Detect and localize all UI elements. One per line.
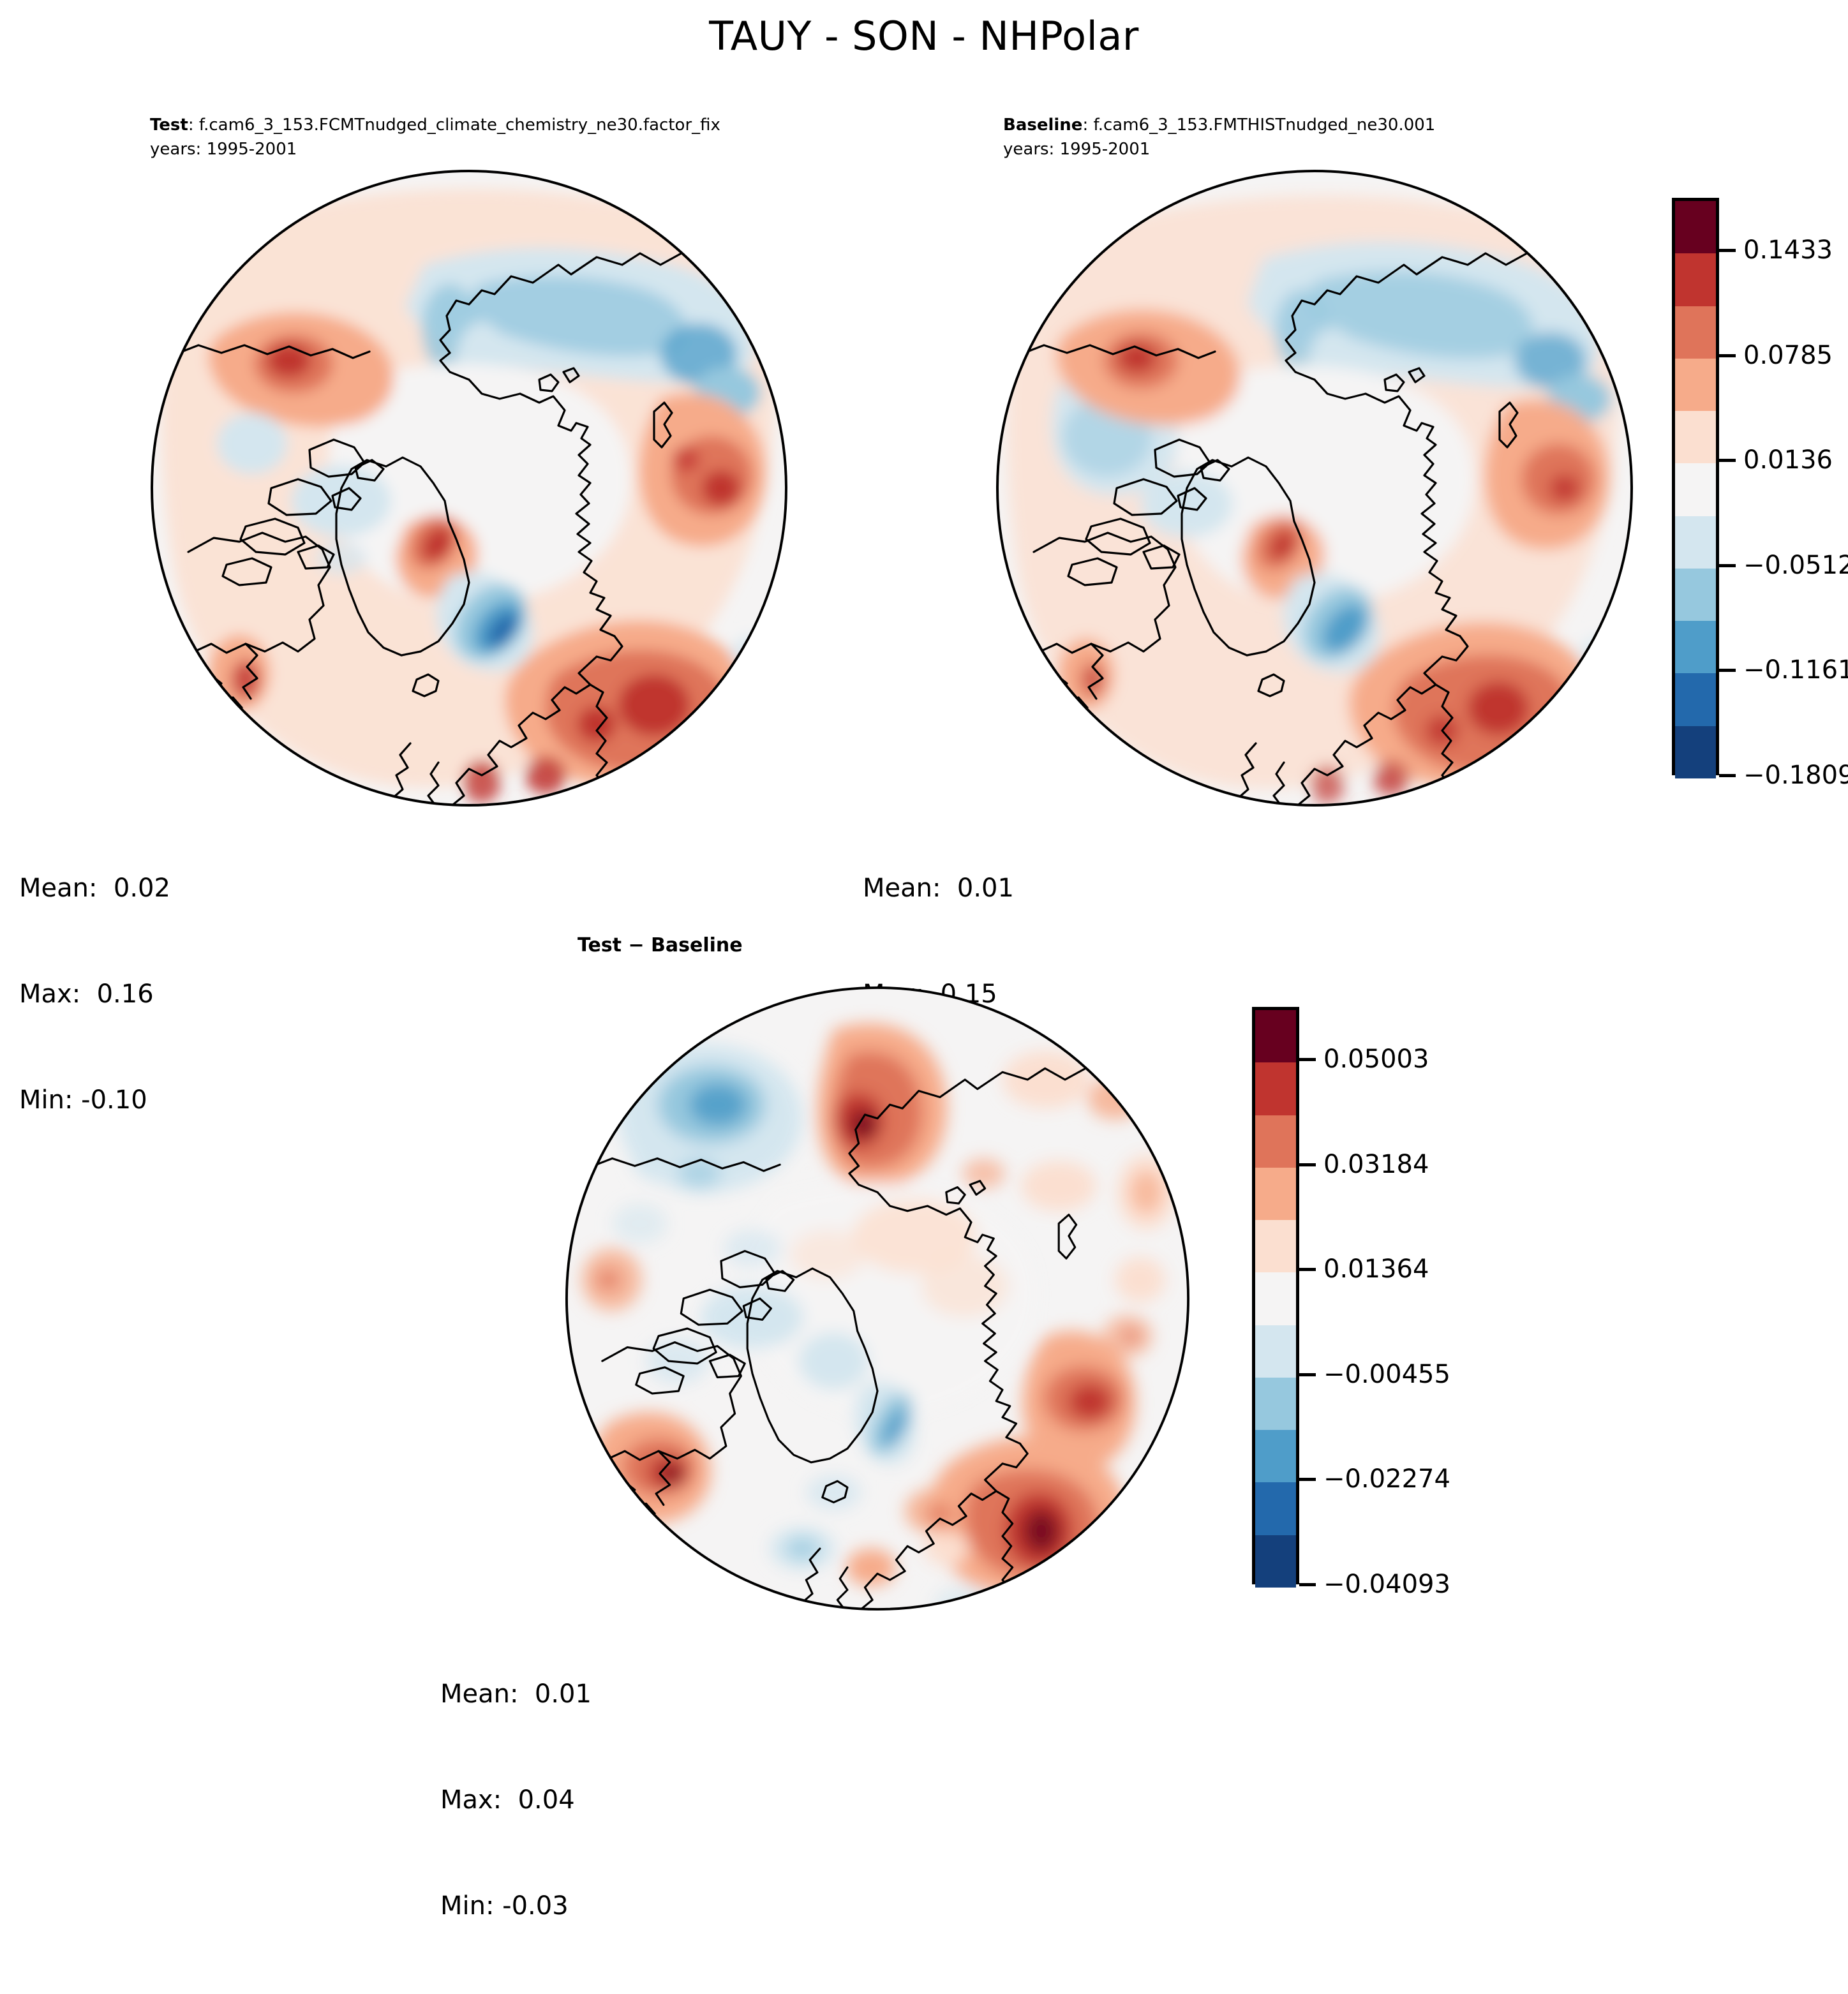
panel-baseline-years: years: 1995-2001 bbox=[1003, 140, 1150, 159]
colorbar-band bbox=[1255, 1378, 1296, 1430]
colorbar-shared-top-bar[interactable] bbox=[1672, 198, 1719, 775]
test-max: Max: 0.16 bbox=[19, 977, 170, 1012]
colorbar-band bbox=[1255, 1272, 1296, 1325]
panel-baseline-label-group: Baseline: f.cam6_3_153.FMTHISTnudged_ne3… bbox=[1003, 115, 1435, 135]
colorbar-difference: 0.050030.031840.01364−0.00455−0.02274−0.… bbox=[1252, 1007, 1443, 1584]
colorbar-band bbox=[1675, 516, 1716, 569]
colorbar-band bbox=[1255, 1062, 1296, 1115]
colorbar-band bbox=[1255, 1325, 1296, 1378]
colorbar-tick bbox=[1719, 564, 1736, 567]
colorbar-tick bbox=[1719, 459, 1736, 462]
colorbar-band bbox=[1675, 673, 1716, 725]
colorbar-difference-bar[interactable] bbox=[1252, 1007, 1299, 1584]
colorbar-tick bbox=[1299, 1058, 1316, 1061]
difference-title-text: Test − Baseline bbox=[577, 934, 743, 956]
page-title: TAUY - SON - NHPolar bbox=[0, 13, 1848, 59]
panel-baseline-case: f.cam6_3_153.FMTHISTnudged_ne30.001 bbox=[1093, 115, 1435, 135]
colorbar-tick-label: 0.0136 bbox=[1743, 445, 1833, 475]
panel-difference-title: Test − Baseline bbox=[577, 932, 743, 960]
colorbar-tick-label: 0.1433 bbox=[1743, 235, 1833, 265]
panel-test-label-group: Test: f.cam6_3_153.FCMTnudged_climate_ch… bbox=[150, 115, 720, 135]
colorbar-band bbox=[1675, 726, 1716, 778]
test-mean: Mean: 0.02 bbox=[19, 871, 170, 906]
colorbar-band bbox=[1255, 1482, 1296, 1535]
colorbar-tick bbox=[1299, 1583, 1316, 1586]
colorbar-tick bbox=[1299, 1163, 1316, 1166]
colorbar-band bbox=[1675, 253, 1716, 306]
colorbar-band bbox=[1675, 621, 1716, 673]
colorbar-tick-label: −0.04093 bbox=[1323, 1570, 1450, 1599]
colorbar-tick bbox=[1719, 249, 1736, 252]
colorbar-band bbox=[1675, 201, 1716, 253]
colorbar-tick-label: −0.1161 bbox=[1743, 655, 1848, 685]
colorbar-tick bbox=[1719, 669, 1736, 672]
colorbar-band bbox=[1255, 1010, 1296, 1062]
colorbar-tick bbox=[1299, 1268, 1316, 1271]
diff-min: Min: -0.03 bbox=[440, 1889, 592, 1924]
panel-baseline-title: Baseline: f.cam6_3_153.FMTHISTnudged_ne3… bbox=[1003, 114, 1435, 161]
colorbar-band bbox=[1255, 1535, 1296, 1588]
colorbar-tick-label: 0.01364 bbox=[1323, 1254, 1429, 1284]
colorbar-band bbox=[1675, 463, 1716, 516]
colorbar-tick-label: −0.1809 bbox=[1743, 761, 1848, 790]
colorbar-tick-label: −0.02274 bbox=[1323, 1464, 1450, 1494]
panel-baseline-sep: : bbox=[1082, 115, 1093, 135]
test-min: Min: -0.10 bbox=[19, 1083, 170, 1118]
figure-canvas: TAUY - SON - NHPolar bbox=[0, 0, 1848, 1702]
panel-test-title: Test: f.cam6_3_153.FCMTnudged_climate_ch… bbox=[150, 114, 720, 161]
colorbar-tick-label: −0.00455 bbox=[1323, 1360, 1450, 1389]
colorbar-band bbox=[1675, 411, 1716, 463]
panel-baseline-label: Baseline bbox=[1003, 115, 1082, 135]
colorbar-band bbox=[1675, 359, 1716, 411]
colorbar-tick-label: 0.05003 bbox=[1323, 1045, 1429, 1074]
panel-test-years: years: 1995-2001 bbox=[150, 140, 297, 159]
map-difference bbox=[565, 986, 1190, 1611]
panel-baseline bbox=[995, 169, 1634, 807]
panel-test-stats: Mean: 0.02 Max: 0.16 Min: -0.10 bbox=[19, 801, 170, 1188]
colorbar-band bbox=[1675, 306, 1716, 359]
panel-difference-stats: Mean: 0.01 Max: 0.04 Min: -0.03 bbox=[440, 1607, 592, 1994]
colorbar-shared-top: 0.14330.07850.0136−0.0512−0.1161−0.1809 bbox=[1672, 198, 1844, 775]
colorbar-band bbox=[1255, 1220, 1296, 1272]
colorbar-band bbox=[1255, 1115, 1296, 1168]
colorbar-tick-label: 0.0785 bbox=[1743, 341, 1833, 370]
colorbar-band bbox=[1255, 1168, 1296, 1220]
colorbar-band bbox=[1675, 569, 1716, 621]
colorbar-tick bbox=[1719, 354, 1736, 357]
map-test bbox=[150, 169, 788, 807]
colorbar-tick-label: −0.0512 bbox=[1743, 551, 1848, 580]
panel-test bbox=[150, 169, 788, 807]
diff-max: Max: 0.04 bbox=[440, 1783, 592, 1818]
colorbar-tick-label: 0.03184 bbox=[1323, 1150, 1429, 1179]
panel-test-case: f.cam6_3_153.FCMTnudged_climate_chemistr… bbox=[199, 115, 720, 135]
panel-test-label: Test bbox=[150, 115, 188, 135]
diff-mean: Mean: 0.01 bbox=[440, 1677, 592, 1712]
colorbar-tick bbox=[1299, 1478, 1316, 1481]
panel-test-sep: : bbox=[188, 115, 199, 135]
map-baseline bbox=[995, 169, 1634, 807]
panel-difference bbox=[565, 986, 1190, 1611]
colorbar-band bbox=[1255, 1430, 1296, 1482]
colorbar-tick bbox=[1719, 774, 1736, 777]
colorbar-tick bbox=[1299, 1373, 1316, 1376]
baseline-mean: Mean: 0.01 bbox=[863, 871, 1014, 906]
